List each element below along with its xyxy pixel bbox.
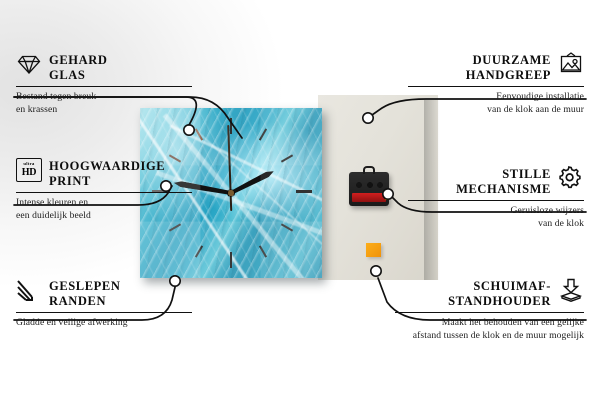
mechanism-detail — [354, 179, 384, 191]
feature-subtitle: Gladde en veilige afwerking — [16, 317, 192, 330]
feature-gehard-glas[interactable]: GEHARD GLAS Bestand tegen breuk en krass… — [16, 52, 192, 117]
divider — [16, 86, 192, 87]
feature-title: GESLEPEN RANDEN — [49, 278, 121, 308]
feature-title: DUURZAME HANDGREEP — [466, 52, 551, 82]
gear-icon — [558, 166, 584, 190]
feature-subtitle: Geruisloze wijzers van de klok — [408, 205, 584, 230]
hanging-picture-frame-icon — [558, 52, 584, 76]
feature-title: HOOGWAARDIGE PRINT — [49, 158, 165, 188]
feature-subtitle: Maakt het behouden van een gelijke afsta… — [395, 317, 584, 342]
foam-spacer — [366, 243, 381, 257]
divider — [395, 312, 584, 313]
hour-hand — [226, 169, 275, 198]
infographic-canvas: GEHARD GLAS Bestand tegen breuk en krass… — [0, 0, 600, 400]
second-hand — [228, 125, 233, 211]
feature-subtitle: Bestand tegen breuk en krassen — [16, 91, 192, 116]
battery — [352, 193, 386, 202]
divider — [408, 86, 584, 87]
diagonal-lines-icon — [16, 278, 42, 302]
feature-title: SCHUIMAF- STANDHOUDER — [448, 278, 551, 308]
feature-hoogwaardige-print[interactable]: ultra HD HOOGWAARDIGE PRINT Intense kleu… — [16, 158, 192, 223]
mechanism-hook-icon — [363, 166, 375, 174]
feature-schuimafstandhouder[interactable]: SCHUIMAF- STANDHOUDER Maakt het behouden… — [395, 278, 584, 343]
clock-center-pin — [228, 190, 233, 195]
feature-stille-mechanisme[interactable]: STILLE MECHANISME Geruisloze wijzers van… — [408, 166, 584, 231]
feature-title: GEHARD GLAS — [49, 52, 107, 82]
feature-subtitle: Eenvoudige installatie van de klok aan d… — [408, 91, 584, 116]
ultra-hd-icon: ultra HD — [16, 158, 42, 182]
arrow-down-onto-pad-icon — [558, 278, 584, 302]
clock-mechanism — [349, 172, 389, 206]
diamond-icon — [16, 52, 42, 76]
divider — [16, 312, 192, 313]
divider — [408, 200, 584, 201]
divider — [16, 192, 192, 193]
feature-duurzame-handgreep[interactable]: DUURZAME HANDGREEP Eenvoudige installati… — [408, 52, 584, 117]
feature-title: STILLE MECHANISME — [456, 166, 551, 196]
feature-subtitle: Intense kleuren en een duidelijk beeld — [16, 197, 192, 222]
feature-geslepen-randen[interactable]: GESLEPEN RANDEN Gladde en veilige afwerk… — [16, 278, 192, 330]
